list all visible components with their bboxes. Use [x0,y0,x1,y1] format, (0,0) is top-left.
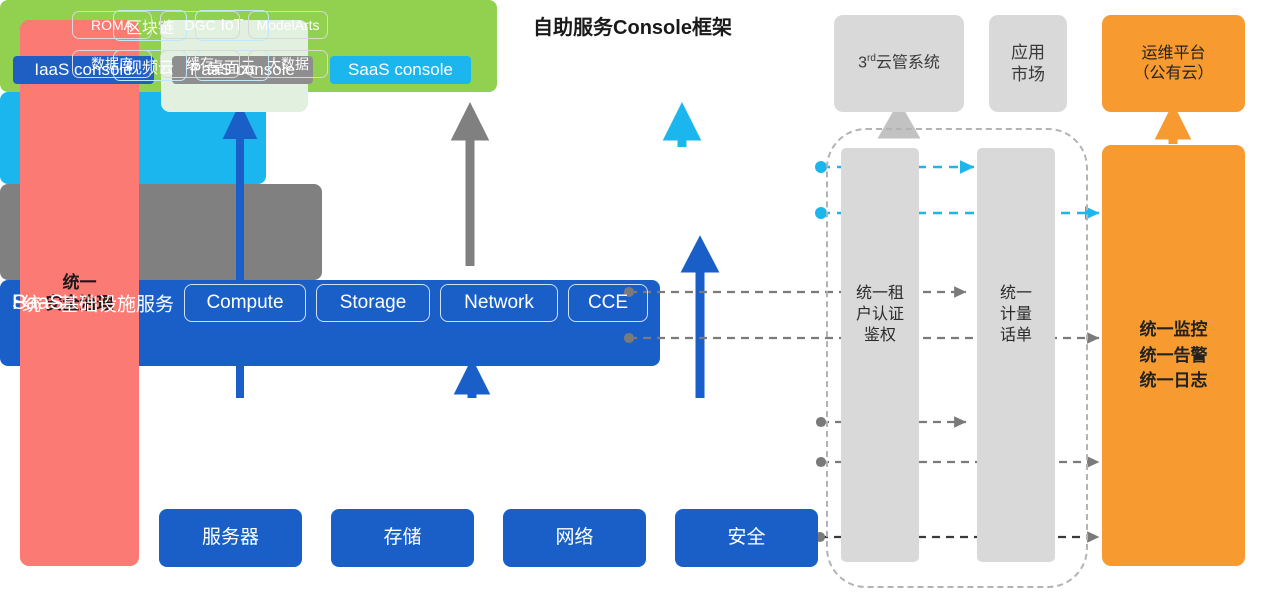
shared-service-auth-label: 统一租 户认证 鉴权 [841,283,919,346]
third-party-sup: rd [867,53,876,64]
shared-service-billing-column[interactable] [977,148,1055,562]
ops-platform-public-cloud-box[interactable]: 运维平台 （公有云） [1102,15,1245,112]
infra-chip-storage[interactable]: Storage [316,284,430,322]
arrow-saas-to-console [670,112,694,147]
hardware-box-network[interactable]: 网络 [503,509,646,567]
unified-infrastructure-label: 统一基础设施服务 [22,289,174,316]
infra-chip-compute[interactable]: Compute [184,284,306,322]
hardware-box-security[interactable]: 安全 [675,509,818,567]
arrow-infra-to-paas [461,368,483,398]
third-party-cloud-mgmt-box[interactable]: 3rd云管系统 [834,15,964,112]
paas-chip-modelarts[interactable]: ModelArts [248,11,328,39]
unified-monitoring-panel[interactable]: 统一监控 统一告警 统一日志 [1102,145,1245,566]
paas-chip-cache[interactable]: 缓存 [160,50,240,78]
shared-service-auth-column[interactable] [841,148,919,562]
unified-monitoring-label: 统一监控 统一告警 统一日志 [1140,317,1208,394]
third-party-prefix: 3 [858,55,867,72]
paas-chip-bigdata[interactable]: 大数据 [248,50,328,78]
third-party-suffix: 云管系统 [876,55,940,72]
hardware-box-storage[interactable]: 存储 [331,509,474,567]
shared-service-billing-label: 统一 计量 话单 [977,283,1055,346]
infra-chip-cce[interactable]: CCE [568,284,648,322]
paas-chip-dgc[interactable]: DGC [160,11,240,39]
app-market-label: 应用 市场 [1011,42,1045,85]
paas-chip-database[interactable]: 数据库 [72,50,152,78]
paas-chip-roma[interactable]: ROMA [72,11,152,39]
app-market-box[interactable]: 应用 市场 [989,15,1067,112]
arrow-to-ops-platform [1162,113,1184,144]
ops-platform-top-label: 运维平台 （公有云） [1133,44,1213,84]
hardware-box-server[interactable]: 服务器 [159,509,302,567]
infra-chip-network[interactable]: Network [440,284,558,322]
saas-console-button[interactable]: SaaS console [330,56,471,84]
third-party-cloud-mgmt-label: 3rd云管系统 [858,53,940,73]
architecture-diagram: 统一租 户认证 鉴权 统一 计量 话单 统一 安全治理 API网关 自助服务Co… [0,0,1265,605]
arrow-paas-to-console [458,112,482,266]
arrow-infra-to-saas [688,245,712,398]
